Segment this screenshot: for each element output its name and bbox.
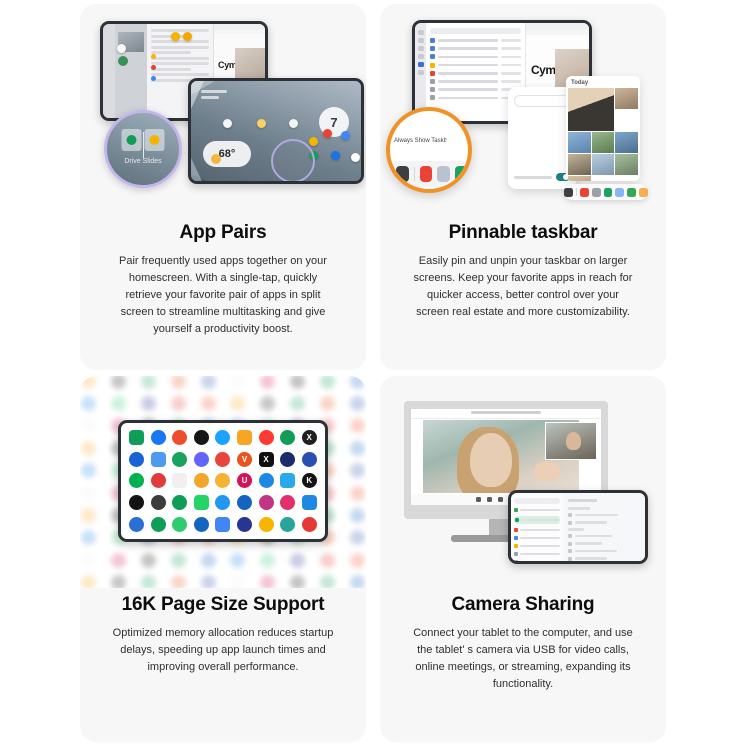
star2-icon[interactable]	[194, 517, 209, 532]
keep-icon	[171, 32, 180, 41]
x2-icon[interactable]: X	[259, 452, 274, 467]
clock-icon[interactable]	[172, 473, 187, 488]
sun-icon	[211, 154, 221, 164]
drive2-icon[interactable]	[151, 517, 166, 532]
k-icon	[141, 553, 156, 568]
search-input[interactable]	[514, 498, 560, 504]
x-icon	[111, 575, 126, 588]
edit-icon[interactable]	[259, 430, 274, 445]
u-icon	[260, 575, 275, 588]
files-icon[interactable]	[615, 188, 624, 197]
mastodon-icon[interactable]	[194, 452, 209, 467]
shopping-icon[interactable]	[194, 430, 209, 445]
taskbar-divider	[414, 167, 415, 181]
u-icon[interactable]: U	[237, 473, 252, 488]
dark-icon[interactable]	[237, 517, 252, 532]
store-icon[interactable]	[172, 430, 187, 445]
tablet-app-grid: XVXUK	[118, 420, 328, 542]
vlc-icon	[171, 575, 186, 588]
feature-card-page-size-support[interactable]: XVXUK 16K Page Size Support Optimized me…	[80, 376, 366, 742]
whatsapp-icon[interactable]	[194, 495, 209, 510]
notes-icon[interactable]	[237, 430, 252, 445]
tablet-settings	[508, 490, 648, 564]
participant-hand	[534, 461, 560, 481]
app-pairs-illustration: Cymbal	[80, 4, 366, 216]
gem-icon	[260, 553, 275, 568]
photo-thumb[interactable]	[568, 132, 591, 153]
maps-icon[interactable]	[351, 153, 360, 162]
notes-icon	[81, 508, 96, 523]
clock-icon	[81, 553, 96, 568]
weather-temperature: 68°	[219, 148, 236, 160]
clock-icon	[81, 418, 96, 433]
controller-icon	[350, 463, 365, 478]
controller-icon	[201, 575, 216, 588]
drive-icon	[141, 376, 156, 389]
taskbar-magnifier: Always Show Taskbar	[386, 107, 472, 193]
always-show-taskbar-row[interactable]	[514, 173, 570, 181]
clock-icon	[81, 486, 96, 501]
feature-card-camera-sharing[interactable]: Camera Sharing Connect your tablet to th…	[380, 376, 666, 742]
participant-face	[470, 433, 512, 487]
pip-participant	[566, 432, 581, 450]
red-icon[interactable]	[302, 517, 317, 532]
home-icon[interactable]	[639, 188, 648, 197]
phone-icon	[171, 553, 186, 568]
vlc-icon	[171, 376, 186, 389]
phone-icon	[320, 376, 335, 389]
camera-icon[interactable]	[487, 497, 492, 502]
k-icon[interactable]: K	[302, 473, 317, 488]
chat-icon[interactable]	[129, 473, 144, 488]
camera-sharing-illustration	[380, 376, 666, 588]
slides-icon	[183, 32, 192, 41]
store-icon	[350, 486, 365, 501]
drive-icon[interactable]	[455, 166, 468, 182]
controller-icon	[350, 530, 365, 545]
chrome-icon	[117, 44, 126, 53]
drive-icon[interactable]	[172, 452, 187, 467]
settings-detail-pane	[563, 493, 645, 561]
gem-icon	[111, 396, 126, 411]
instagram-icon[interactable]	[280, 495, 295, 510]
card-body: Easily pin and unpin your taskbar on lar…	[388, 245, 658, 321]
swoosh-icon	[81, 396, 96, 411]
always-show-taskbar-label	[514, 176, 552, 179]
photo-thumb[interactable]	[568, 176, 591, 181]
red-icon	[320, 553, 335, 568]
chevrons-icon[interactable]	[129, 452, 144, 467]
vlc-icon[interactable]: V	[237, 452, 252, 467]
photo-thumb[interactable]	[615, 132, 638, 153]
app-pair-label: Drive Slides	[124, 158, 161, 165]
games-icon[interactable]	[215, 452, 230, 467]
controller-icon[interactable]	[302, 452, 317, 467]
card-body: Pair frequently used apps together on yo…	[88, 245, 358, 338]
feature-card-pinnable-taskbar[interactable]: Cymbal Today	[380, 4, 666, 370]
vlc-icon	[320, 396, 335, 411]
wallpaper-widget-text	[201, 90, 227, 102]
photo-grid	[566, 88, 640, 181]
photo-thumb[interactable]	[615, 154, 638, 175]
photo-thumb[interactable]	[615, 88, 638, 109]
search-icon[interactable]	[215, 430, 230, 445]
taskbar-divider	[576, 188, 577, 196]
keep-icon[interactable]	[257, 119, 266, 128]
weather-widget[interactable]: 68°	[203, 141, 251, 167]
teal-icon[interactable]	[280, 517, 295, 532]
frame-icon[interactable]	[129, 517, 144, 532]
card-title: 16K Page Size Support	[122, 594, 325, 617]
photos-header: Today	[566, 76, 640, 88]
settings-list-pane	[511, 493, 563, 561]
photo-thumb[interactable]	[568, 154, 591, 175]
u-icon	[260, 376, 275, 389]
swoosh-icon[interactable]	[302, 495, 317, 510]
cloud-icon[interactable]	[259, 473, 274, 488]
photos-icon[interactable]	[437, 166, 450, 182]
gmail-icon[interactable]	[420, 166, 433, 182]
swoosh-icon	[81, 463, 96, 478]
app-pair-magnifier: Drive Slides	[104, 110, 182, 188]
photos-icon[interactable]	[592, 188, 601, 197]
github-icon[interactable]	[129, 495, 144, 510]
star-icon	[350, 441, 365, 456]
nav-rail	[103, 24, 115, 118]
window-titlebar	[411, 409, 601, 419]
store-icon	[350, 553, 365, 568]
store-icon	[350, 418, 365, 433]
chrome-icon[interactable]	[223, 119, 232, 128]
star-icon	[350, 575, 365, 588]
photos-icon[interactable]	[331, 151, 340, 160]
dark-icon	[141, 396, 156, 411]
gem-icon[interactable]	[172, 517, 187, 532]
mail-icon[interactable]	[151, 473, 166, 488]
app-pair-highlight-ring	[271, 139, 315, 181]
photos-pane	[115, 24, 147, 118]
always-show-taskbar-label: Always Show Taskbar	[394, 138, 452, 144]
page-size-illustration: XVXUK	[80, 376, 366, 588]
feature-cards-grid: Cymbal	[80, 4, 666, 742]
x-icon[interactable]: X	[302, 430, 317, 445]
app-icon-grid[interactable]: XVXUK	[121, 423, 325, 539]
u-icon	[111, 553, 126, 568]
info-icon[interactable]	[498, 497, 503, 502]
drive-icon	[290, 396, 305, 411]
taxi2-icon[interactable]	[280, 430, 295, 445]
window-title	[471, 411, 541, 414]
drive-icon[interactable]	[604, 188, 613, 197]
mic-icon[interactable]	[476, 497, 481, 502]
controller-icon	[350, 396, 365, 411]
magnified-taskbar[interactable]	[390, 161, 468, 187]
envelope-icon[interactable]	[194, 473, 209, 488]
drive-icon	[141, 575, 156, 588]
card-body: Optimized memory allocation reduces star…	[88, 617, 358, 676]
card-title: Pinnable taskbar	[449, 222, 598, 245]
store-icon	[201, 396, 216, 411]
k-icon	[290, 575, 305, 588]
magnified-toggle-row[interactable]: Always Show Taskbar	[394, 135, 454, 147]
taskbar[interactable]	[564, 184, 648, 200]
feature-card-app-pairs[interactable]: Cymbal	[80, 4, 366, 370]
yellow-icon[interactable]	[259, 517, 274, 532]
taxi-icon[interactable]	[129, 430, 144, 445]
clock-icon	[230, 376, 245, 389]
star-icon[interactable]	[237, 495, 252, 510]
card-title: App Pairs	[180, 222, 267, 245]
controller-icon	[201, 376, 216, 389]
star-icon	[350, 508, 365, 523]
pinnable-taskbar-illustration: Cymbal Today	[380, 4, 666, 216]
feature-cards-page: Cymbal	[0, 0, 750, 750]
send-icon[interactable]	[215, 495, 230, 510]
gmail-icon[interactable]	[580, 188, 589, 197]
maps-icon[interactable]	[627, 188, 636, 197]
picture-in-picture-feed[interactable]	[545, 422, 597, 460]
camera-icon[interactable]	[259, 495, 274, 510]
chat-bubble	[514, 95, 570, 107]
settings-icon[interactable]	[151, 495, 166, 510]
chart-icon[interactable]	[151, 452, 166, 467]
swoosh-icon	[230, 553, 245, 568]
music-icon[interactable]	[280, 452, 295, 467]
star-icon	[350, 376, 365, 389]
calendar-icon[interactable]	[341, 131, 350, 140]
doc-photo	[235, 48, 265, 80]
app-grid-icon[interactable]	[564, 188, 573, 197]
x-icon	[111, 376, 126, 389]
photo-thumb[interactable]	[592, 132, 615, 153]
messenger-icon[interactable]	[151, 430, 166, 445]
card-title: Camera Sharing	[452, 594, 595, 617]
dark-icon	[290, 553, 305, 568]
photos-panel: Today	[566, 76, 640, 181]
phone-icon	[320, 575, 335, 588]
phone-icon[interactable]	[172, 495, 187, 510]
red-icon	[171, 396, 186, 411]
notes-icon	[81, 376, 96, 389]
notes-icon	[81, 441, 96, 456]
x-icon	[260, 396, 275, 411]
clock-icon	[230, 575, 245, 588]
card-body: Connect your tablet to the computer, and…	[388, 617, 658, 693]
slides-icon[interactable]	[309, 137, 318, 146]
blue-icon[interactable]	[215, 517, 230, 532]
notes-icon	[230, 396, 245, 411]
swoosh-icon	[81, 530, 96, 545]
gmail-icon[interactable]	[323, 129, 332, 138]
drive-icon[interactable]	[289, 119, 298, 128]
k-icon	[290, 376, 305, 389]
telegram-icon[interactable]	[280, 473, 295, 488]
star-icon	[201, 553, 216, 568]
app-grid-icon[interactable]	[396, 166, 409, 182]
app-pair-tiles	[122, 129, 165, 151]
photo-dog[interactable]	[568, 88, 614, 131]
photo-thumb[interactable]	[592, 154, 615, 175]
tablet-homescreen: 68° 7	[188, 78, 364, 184]
inbox-icon[interactable]	[215, 473, 230, 488]
notes-icon	[81, 575, 96, 588]
